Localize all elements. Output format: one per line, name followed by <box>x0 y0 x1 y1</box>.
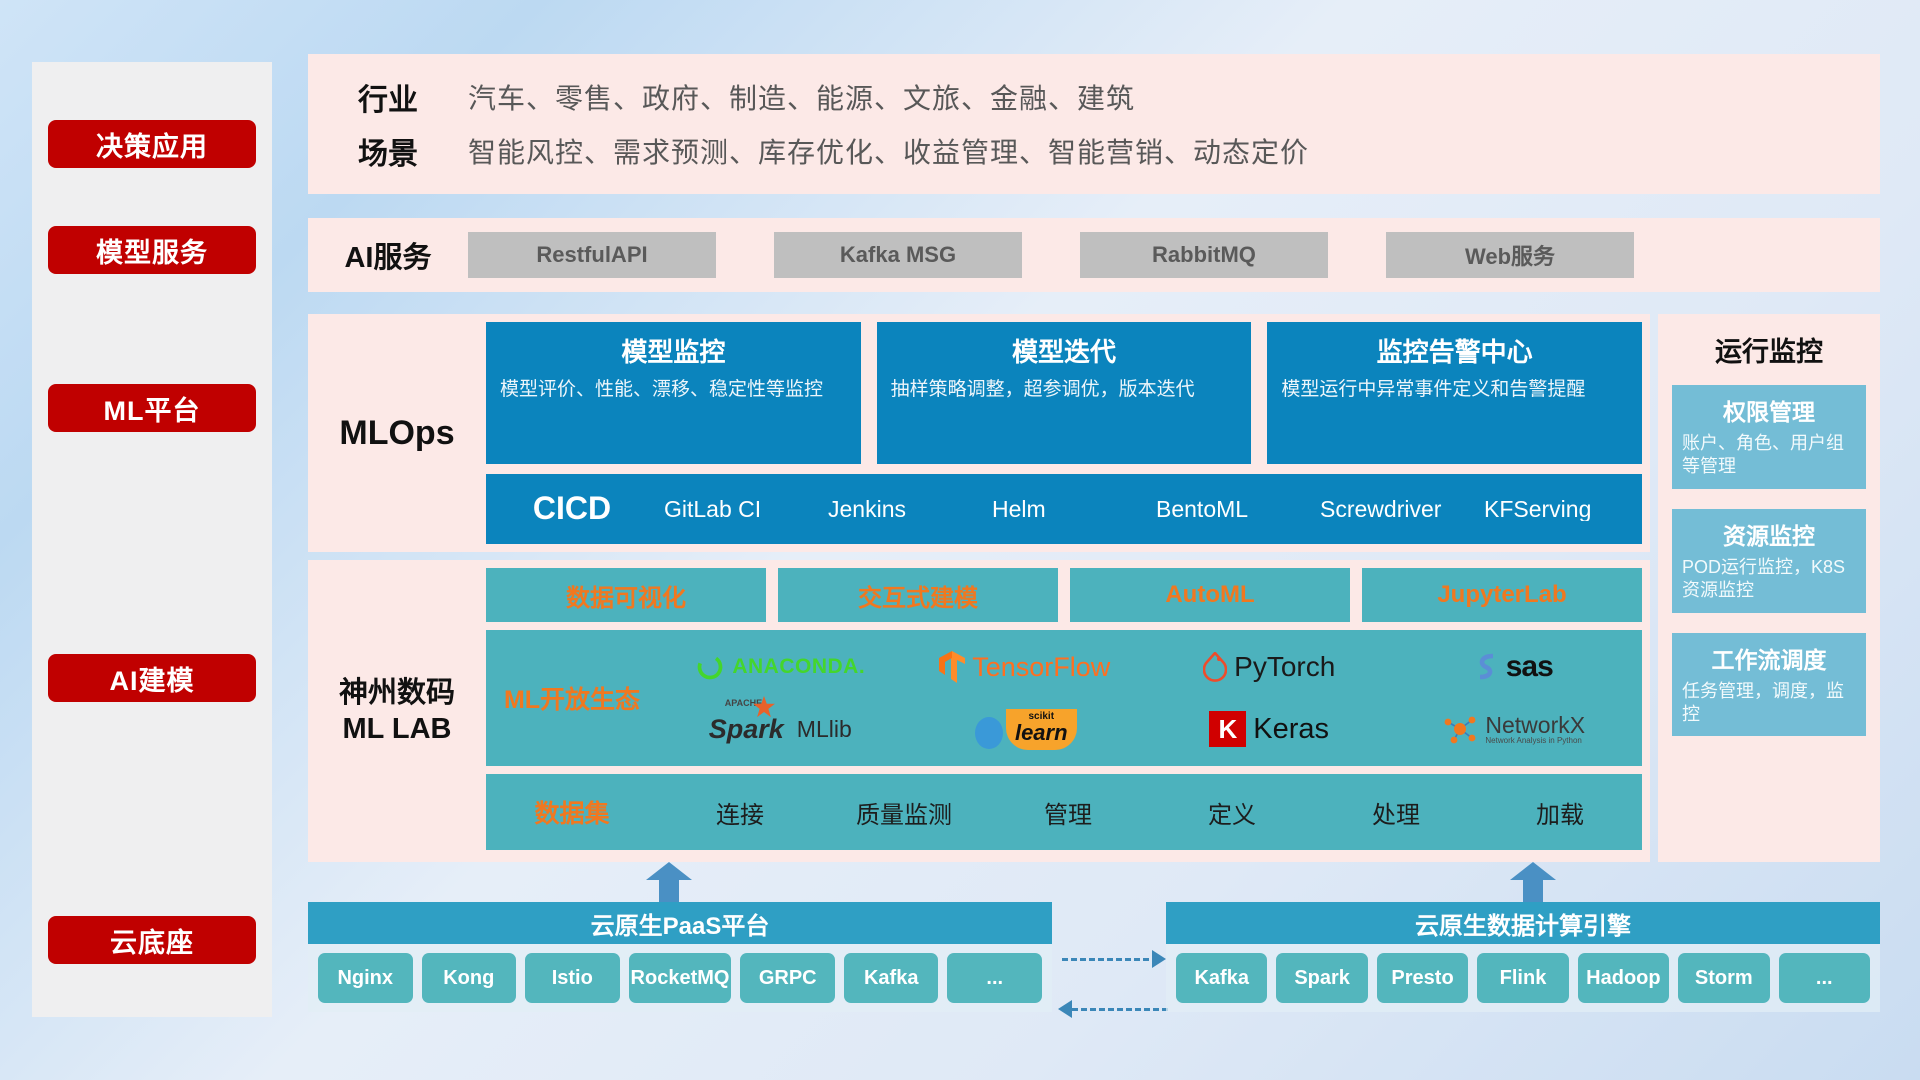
monitor-card-workflow[interactable]: 工作流调度 任务管理，调度，监控 <box>1672 633 1866 737</box>
cloud-chip-nginx[interactable]: Nginx <box>318 953 413 1003</box>
rail-item-ai-modeling[interactable]: AI建模 <box>48 654 256 702</box>
scenario-row: 场景 智能风控、需求预测、库存优化、收益管理、智能营销、动态定价 <box>308 124 1880 178</box>
dashed-arrow-head-right <box>1152 950 1166 968</box>
cicd-item-helm[interactable]: Helm <box>986 497 1150 521</box>
ml-lab-tool-data-visualization[interactable]: 数据可视化 <box>486 568 766 622</box>
arrow-up-engine <box>1510 862 1556 902</box>
dataset-row: 数据集 连接 质量监测 管理 定义 处理 加载 <box>486 774 1642 850</box>
networkx-graph-icon <box>1442 713 1478 745</box>
dataset-item-define[interactable]: 定义 <box>1150 795 1314 830</box>
layer-rail: 决策应用 模型服务 ML平台 AI建模 云底座 <box>32 62 272 1017</box>
ai-service-band: AI服务 RestfulAPI Kafka MSG RabbitMQ Web服务 <box>308 218 1880 292</box>
spark-wordmark: Spark <box>709 714 784 744</box>
card-desc: 模型运行中异常事件定义和告警提醒 <box>1281 377 1628 402</box>
cicd-item-kfserving[interactable]: KFServing <box>1478 497 1642 521</box>
card-title: 模型迭代 <box>891 332 1238 369</box>
runtime-monitoring-title: 运行监控 <box>1672 330 1866 369</box>
networkx-wordmark: NetworkX <box>1485 714 1585 737</box>
ml-open-ecosystem-label: ML开放生态 <box>486 680 658 716</box>
card-desc: 任务管理，调度，监控 <box>1682 680 1856 727</box>
card-desc: 抽样策略调整，超参调优，版本迭代 <box>891 377 1238 402</box>
cloud-engine-chip-list: Kafka Spark Presto Flink Hadoop Storm ..… <box>1166 944 1880 1012</box>
ml-lab-label-line1: 神州数码 <box>339 675 455 711</box>
spark-logo: APACHE Spark MLlib <box>658 698 903 760</box>
keras-wordmark: Keras <box>1253 713 1329 746</box>
tensorflow-mark-icon <box>939 651 965 683</box>
anaconda-logo: ANACONDA. <box>658 636 903 698</box>
cloud-chip-kafka[interactable]: Kafka <box>844 953 939 1003</box>
dataset-item-quality[interactable]: 质量监测 <box>822 795 986 830</box>
ai-service-label: AI服务 <box>308 234 468 276</box>
anaconda-mark-icon <box>695 652 725 682</box>
dataset-item-connect[interactable]: 连接 <box>658 795 822 830</box>
mllib-wordmark: MLlib <box>797 716 852 743</box>
monitor-card-permission[interactable]: 权限管理 账户、角色、用户组等管理 <box>1672 385 1866 489</box>
cicd-item-screwdriver[interactable]: Screwdriver <box>1314 497 1478 521</box>
dashed-arrow-head-left <box>1058 1000 1072 1018</box>
dataset-label: 数据集 <box>486 794 658 830</box>
cloud-paas-group: 云原生PaaS平台 Nginx Kong Istio RocketMQ GRPC… <box>308 902 1052 1012</box>
ml-lab-label: 神州数码 ML LAB <box>308 560 486 862</box>
mlops-card-model-monitoring[interactable]: 模型监控 模型评价、性能、漂移、稳定性等监控 <box>486 322 861 464</box>
engine-chip-spark[interactable]: Spark <box>1276 953 1367 1003</box>
card-title: 监控告警中心 <box>1281 332 1628 369</box>
spark-star-icon <box>753 696 775 718</box>
card-desc: POD运行监控，K8S资源监控 <box>1682 556 1856 603</box>
ml-lab-content: 数据可视化 交互式建模 AutoML JupyterLab ML开放生态 ANA… <box>486 560 1650 862</box>
pytorch-logo: PyTorch <box>1147 636 1392 698</box>
pytorch-mark-icon <box>1203 652 1227 682</box>
engine-chip-kafka[interactable]: Kafka <box>1176 953 1267 1003</box>
card-title: 模型监控 <box>500 332 847 369</box>
dashed-connector-left <box>1072 1008 1168 1011</box>
industry-label: 行业 <box>308 75 468 119</box>
engine-chip-flink[interactable]: Flink <box>1477 953 1568 1003</box>
sas-wordmark: sas <box>1506 650 1553 684</box>
networkx-logo: NetworkX Network Analysis in Python <box>1392 698 1637 760</box>
card-title: 资源监控 <box>1682 517 1856 551</box>
cicd-item-gitlab-ci[interactable]: GitLab CI <box>658 497 822 521</box>
dataset-item-process[interactable]: 处理 <box>1314 795 1478 830</box>
tensorflow-wordmark: TensorFlow <box>972 652 1110 683</box>
arrow-up-paas <box>646 862 692 902</box>
engine-chip-more[interactable]: ... <box>1779 953 1870 1003</box>
card-title: 权限管理 <box>1682 393 1856 427</box>
ai-service-chip-restfulapi[interactable]: RestfulAPI <box>468 232 716 278</box>
card-desc: 模型评价、性能、漂移、稳定性等监控 <box>500 377 847 402</box>
mlops-card-model-iteration[interactable]: 模型迭代 抽样策略调整，超参调优，版本迭代 <box>877 322 1252 464</box>
ml-lab-band: 神州数码 ML LAB 数据可视化 交互式建模 AutoML JupyterLa… <box>308 560 1650 862</box>
cicd-title: CICD <box>486 490 658 527</box>
pytorch-wordmark: PyTorch <box>1234 651 1335 683</box>
mlops-label: MLOps <box>308 314 486 552</box>
ai-service-chip-list: RestfulAPI Kafka MSG RabbitMQ Web服务 <box>468 232 1880 278</box>
ml-lab-tool-jupyterlab[interactable]: JupyterLab <box>1362 568 1642 622</box>
cicd-item-bentoml[interactable]: BentoML <box>1150 497 1314 521</box>
rail-item-decision-app[interactable]: 决策应用 <box>48 120 256 168</box>
runtime-monitoring-panel: 运行监控 权限管理 账户、角色、用户组等管理 资源监控 POD运行监控，K8S资… <box>1658 314 1880 862</box>
cloud-chip-rocketmq[interactable]: RocketMQ <box>629 953 732 1003</box>
industry-scenario-band: 行业 汽车、零售、政府、制造、能源、文旅、金融、建筑 场景 智能风控、需求预测、… <box>308 54 1880 194</box>
card-title: 工作流调度 <box>1682 641 1856 675</box>
cloud-paas-title: 云原生PaaS平台 <box>308 902 1052 944</box>
networkx-tagline: Network Analysis in Python <box>1485 737 1585 745</box>
sas-logo: sas <box>1392 636 1637 698</box>
learn-word: learn <box>1015 722 1068 744</box>
cloud-engine-title: 云原生数据计算引擎 <box>1166 902 1880 944</box>
cicd-bar: CICD GitLab CI Jenkins Helm BentoML Scre… <box>486 474 1642 544</box>
mlops-band: MLOps 模型监控 模型评价、性能、漂移、稳定性等监控 模型迭代 抽样策略调整… <box>308 314 1650 552</box>
cloud-chip-grpc[interactable]: GRPC <box>740 953 835 1003</box>
ml-lab-tool-interactive-modeling[interactable]: 交互式建模 <box>778 568 1058 622</box>
cloud-chip-kong[interactable]: Kong <box>422 953 517 1003</box>
dashed-connector-right <box>1062 958 1158 961</box>
tensorflow-logo: TensorFlow <box>903 636 1148 698</box>
sas-mark-icon <box>1475 653 1499 681</box>
cicd-item-jenkins[interactable]: Jenkins <box>822 497 986 521</box>
ml-lab-label-line2: ML LAB <box>342 711 451 747</box>
keras-mark-icon: K <box>1209 711 1246 748</box>
engine-chip-presto[interactable]: Presto <box>1377 953 1468 1003</box>
ai-service-chip-web[interactable]: Web服务 <box>1386 232 1634 278</box>
mlops-card-alert-center[interactable]: 监控告警中心 模型运行中异常事件定义和告警提醒 <box>1267 322 1642 464</box>
dataset-item-load[interactable]: 加载 <box>1478 795 1642 830</box>
scenario-label: 场景 <box>308 129 468 173</box>
monitor-card-resource[interactable]: 资源监控 POD运行监控，K8S资源监控 <box>1672 509 1866 613</box>
scenario-values: 智能风控、需求预测、库存优化、收益管理、智能营销、动态定价 <box>468 131 1309 171</box>
industry-row: 行业 汽车、零售、政府、制造、能源、文旅、金融、建筑 <box>308 70 1880 124</box>
cloud-chip-more[interactable]: ... <box>947 953 1042 1003</box>
engine-chip-storm[interactable]: Storm <box>1678 953 1769 1003</box>
cloud-paas-chip-list: Nginx Kong Istio RocketMQ GRPC Kafka ... <box>308 944 1052 1012</box>
ml-lab-tool-list: 数据可视化 交互式建模 AutoML JupyterLab <box>486 568 1642 622</box>
scikit-learn-logo: scikit learn <box>903 698 1148 760</box>
anaconda-wordmark: ANACONDA. <box>732 655 865 679</box>
rail-item-model-service[interactable]: 模型服务 <box>48 226 256 274</box>
engine-chip-hadoop[interactable]: Hadoop <box>1578 953 1669 1003</box>
rail-item-cloud-base[interactable]: 云底座 <box>48 916 256 964</box>
mlops-content: 模型监控 模型评价、性能、漂移、稳定性等监控 模型迭代 抽样策略调整，超参调优，… <box>486 314 1650 552</box>
ml-lab-tool-automl[interactable]: AutoML <box>1070 568 1350 622</box>
ai-service-chip-kafka-msg[interactable]: Kafka MSG <box>774 232 1022 278</box>
cloud-chip-istio[interactable]: Istio <box>525 953 620 1003</box>
industry-values: 汽车、零售、政府、制造、能源、文旅、金融、建筑 <box>468 77 1135 117</box>
mlops-card-list: 模型监控 模型评价、性能、漂移、稳定性等监控 模型迭代 抽样策略调整，超参调优，… <box>486 322 1642 464</box>
ai-service-chip-rabbitmq[interactable]: RabbitMQ <box>1080 232 1328 278</box>
dataset-item-manage[interactable]: 管理 <box>986 795 1150 830</box>
card-desc: 账户、角色、用户组等管理 <box>1682 432 1856 479</box>
ecosystem-logo-grid: ANACONDA. TensorFlow PyTorch <box>658 636 1642 760</box>
ml-open-ecosystem-row: ML开放生态 ANACONDA. TensorFlow <box>486 630 1642 766</box>
rail-item-ml-platform[interactable]: ML平台 <box>48 384 256 432</box>
keras-logo: K Keras <box>1147 698 1392 760</box>
cloud-engine-group: 云原生数据计算引擎 Kafka Spark Presto Flink Hadoo… <box>1166 902 1880 1012</box>
